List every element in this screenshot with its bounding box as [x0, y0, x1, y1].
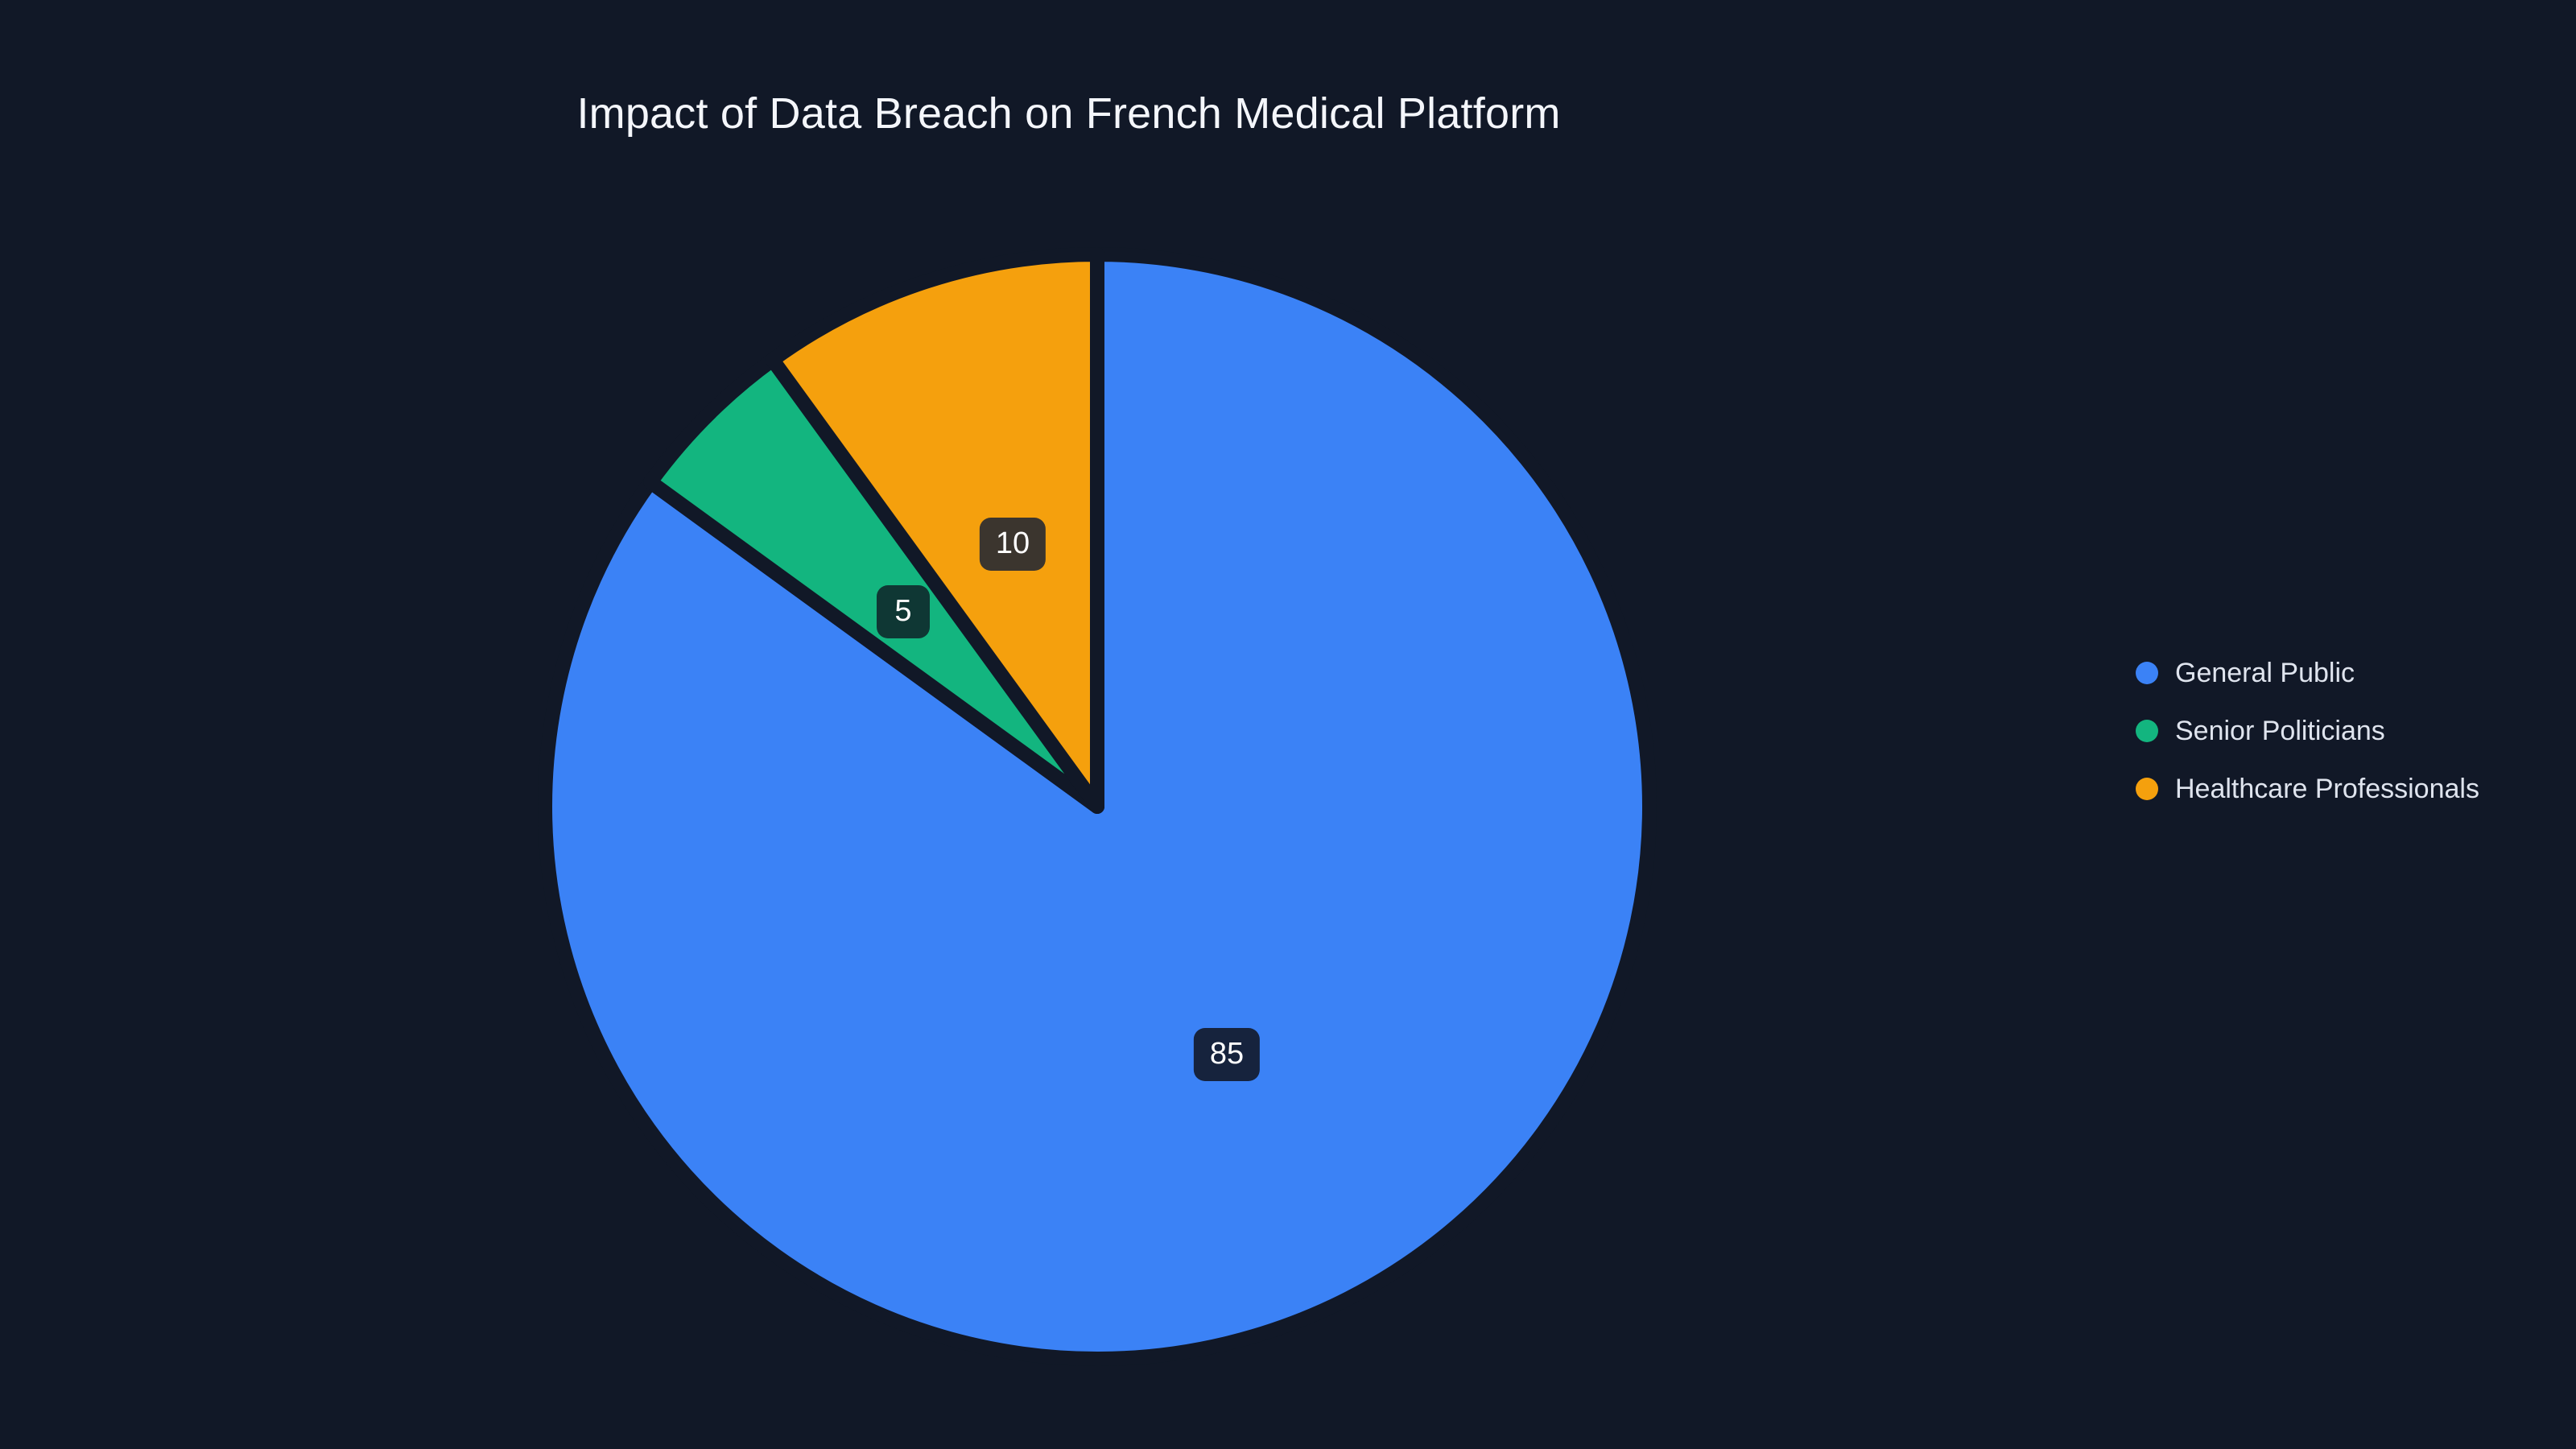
legend-swatch-icon — [2136, 720, 2158, 742]
legend-item-general-public[interactable]: General Public — [2136, 644, 2479, 702]
legend-swatch-icon — [2136, 662, 2158, 684]
pie-chart-container: Impact of Data Breach on French Medical … — [0, 0, 2576, 1449]
slice-value-label: 5 — [877, 585, 930, 638]
legend-swatch-icon — [2136, 778, 2158, 800]
legend-item-label: Senior Politicians — [2175, 717, 2385, 745]
slice-value-label: 10 — [980, 518, 1046, 571]
legend-item-senior-politicians[interactable]: Senior Politicians — [2136, 702, 2479, 760]
legend-item-label: Healthcare Professionals — [2175, 775, 2479, 803]
legend-item-healthcare-professionals[interactable]: Healthcare Professionals — [2136, 760, 2479, 818]
chart-legend: General Public Senior Politicians Health… — [2136, 644, 2479, 818]
legend-item-label: General Public — [2175, 659, 2355, 687]
slice-value-label: 85 — [1194, 1028, 1260, 1081]
